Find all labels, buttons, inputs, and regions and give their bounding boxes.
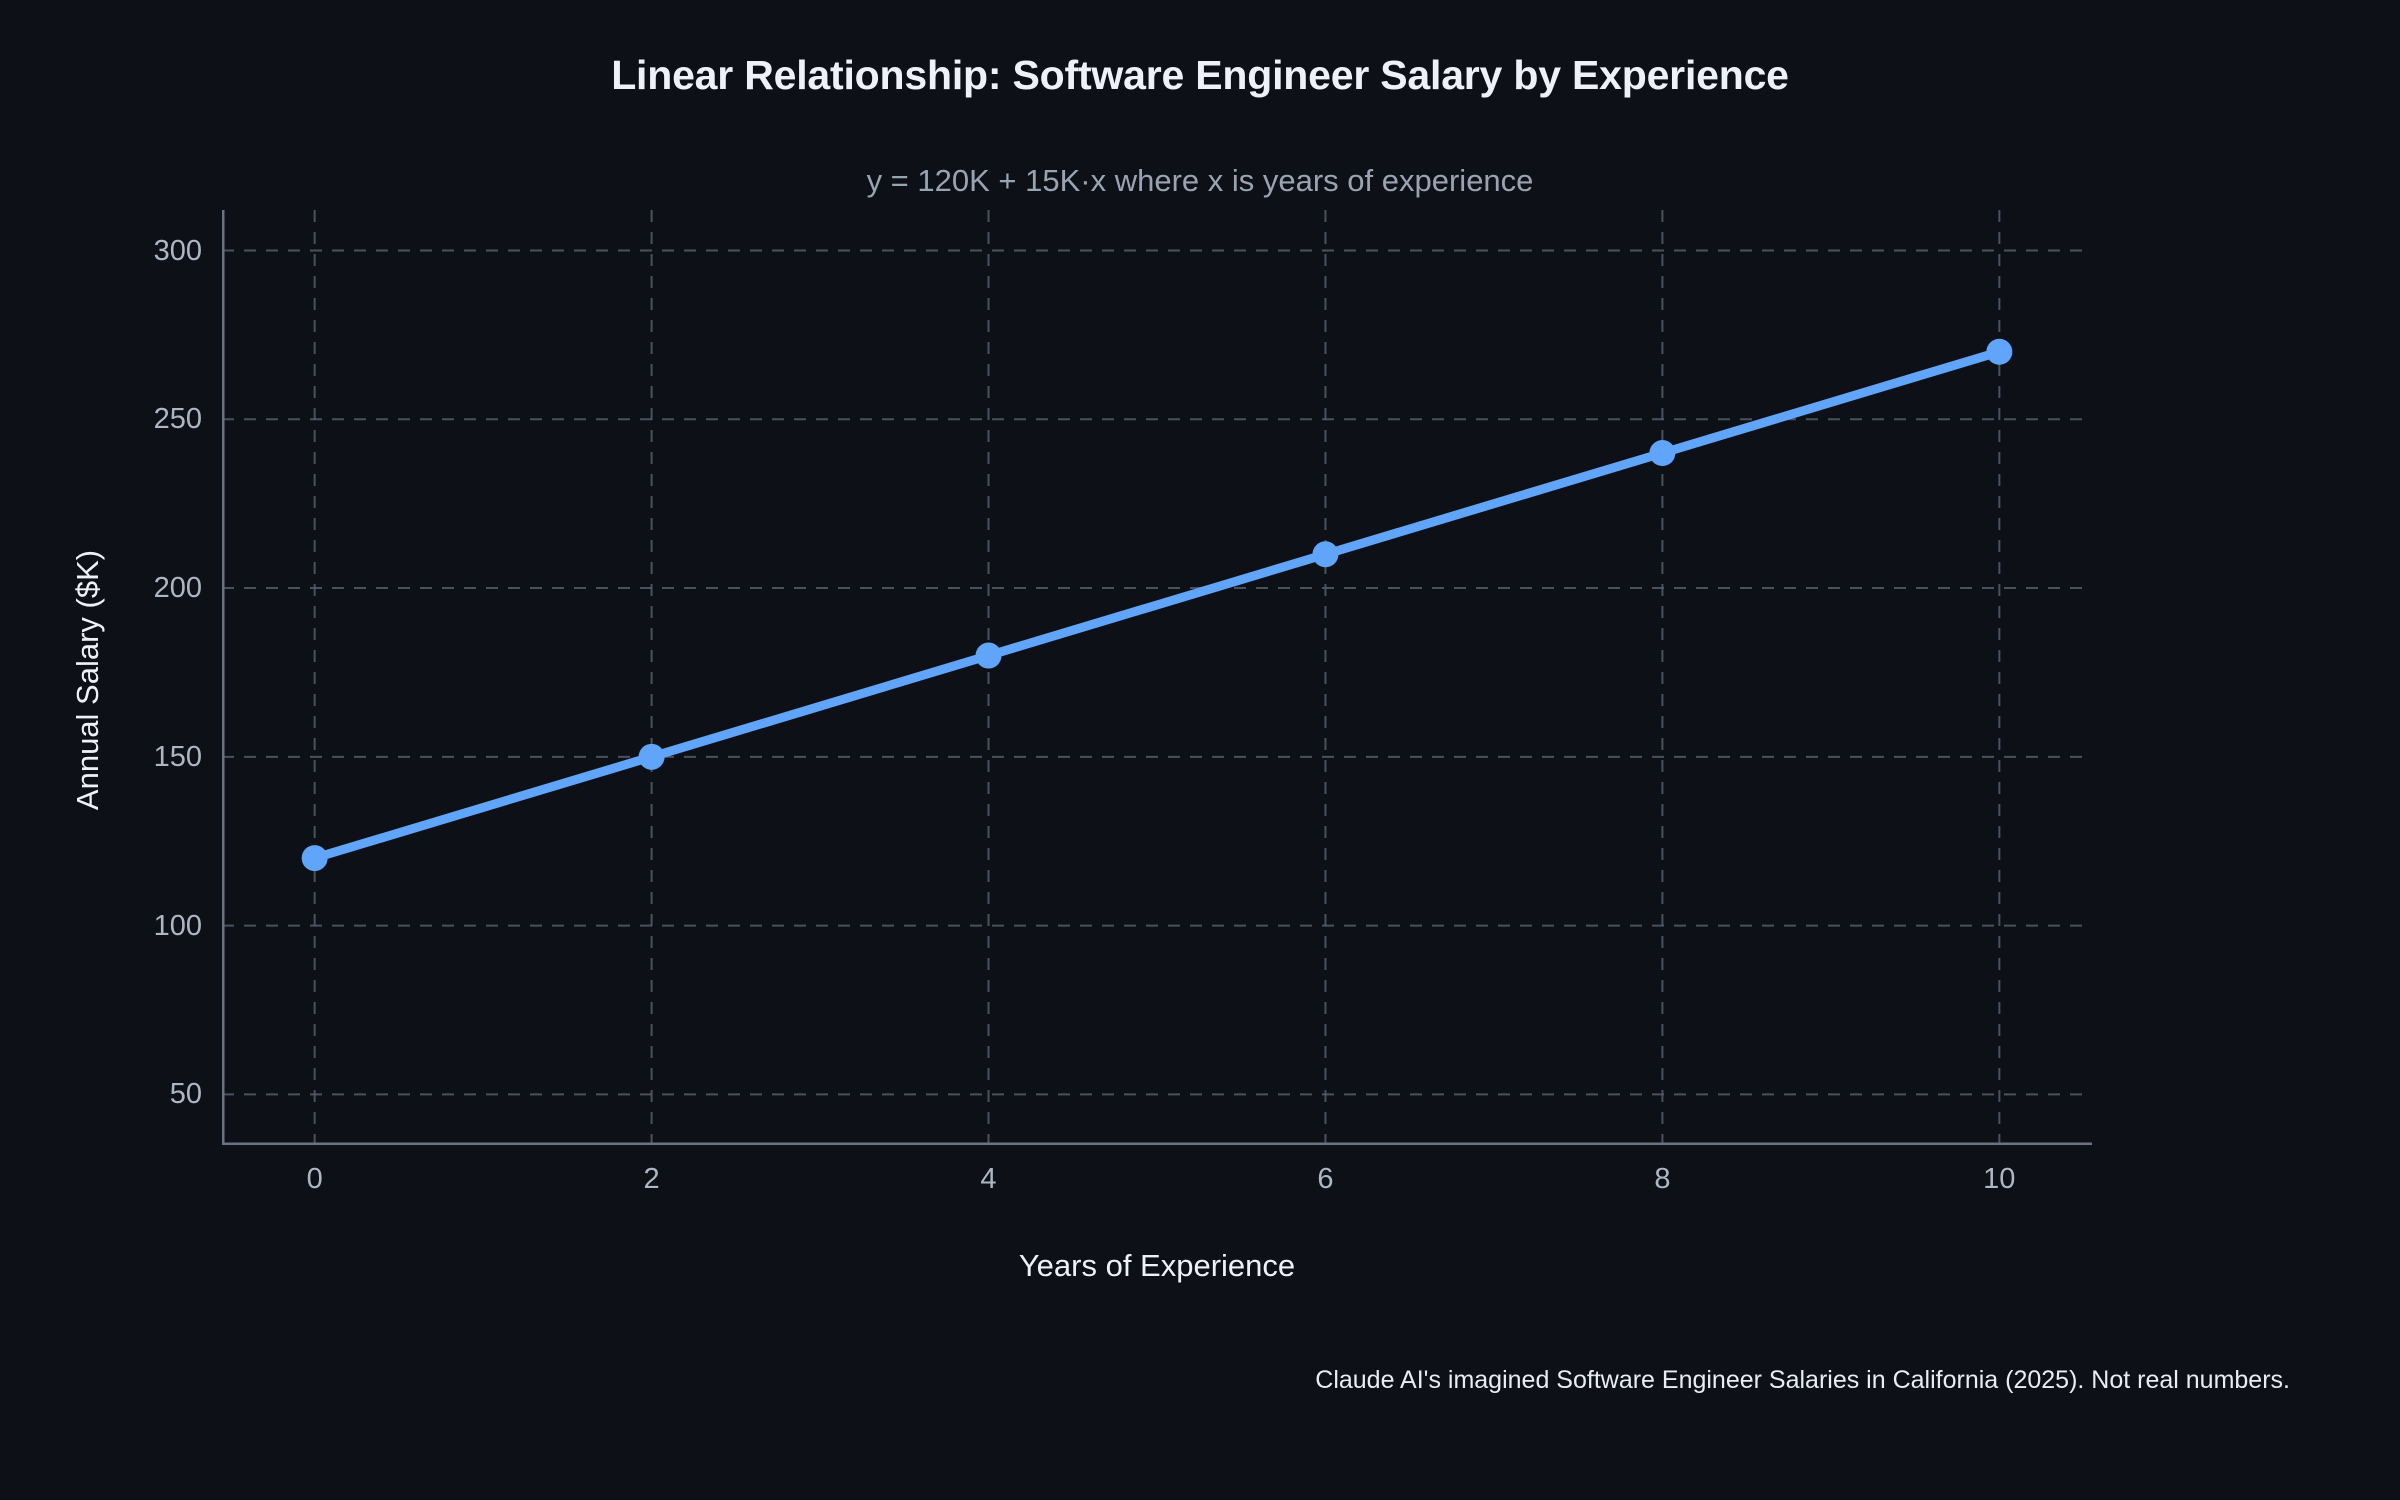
chart-subtitle: y = 120K + 15K·x where x is years of exp… (0, 163, 2400, 199)
chart-figure: Linear Relationship: Software Engineer S… (0, 0, 2400, 1500)
x-tick-label: 10 (1939, 1163, 2059, 1196)
plot-area (222, 210, 2092, 1145)
x-tick-label: 6 (1266, 1163, 1386, 1196)
axis-tickmarks (222, 251, 1999, 1145)
x-axis-tick-labels: 0246810 (222, 1163, 2092, 1213)
data-point-marker[interactable] (639, 744, 665, 770)
line-chart-svg (222, 210, 2092, 1145)
data-point-marker[interactable] (976, 643, 1002, 669)
x-axis-title: Years of Experience (222, 1248, 2092, 1284)
x-tick-label: 8 (1602, 1163, 1722, 1196)
page-title: Linear Relationship: Software Engineer S… (0, 52, 2400, 99)
y-axis-tick-labels: 50100150200250300 (82, 210, 202, 1145)
data-point-marker[interactable] (1649, 440, 1675, 466)
series-line (315, 352, 2000, 858)
x-tick-label: 0 (255, 1163, 375, 1196)
data-point-marker[interactable] (1312, 541, 1338, 567)
footer-caption: Claude AI's imagined Software Engineer S… (1315, 1366, 2290, 1395)
data-point-marker[interactable] (1986, 339, 2012, 365)
x-tick-label: 4 (929, 1163, 1049, 1196)
data-point-marker[interactable] (302, 845, 328, 871)
axis-spines (222, 210, 2092, 1145)
gridlines (222, 210, 2092, 1145)
x-tick-label: 2 (592, 1163, 712, 1196)
